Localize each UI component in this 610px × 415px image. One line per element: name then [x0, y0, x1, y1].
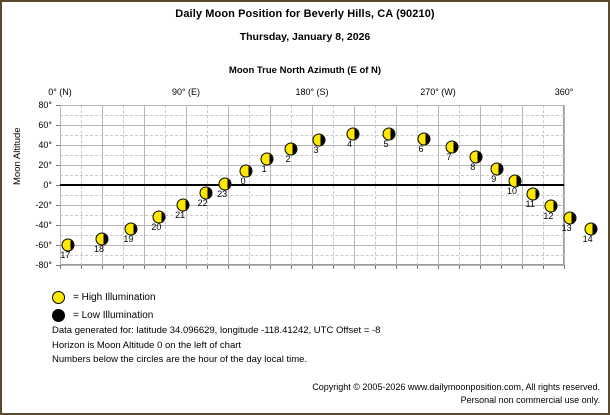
y-axis-tick — [56, 125, 60, 126]
page-subtitle: Thursday, January 8, 2026 — [2, 31, 608, 43]
gridline-horizontal — [60, 155, 564, 156]
x-axis-tick — [396, 265, 397, 269]
moon-hour-label: 21 — [175, 210, 185, 220]
note-hour-numbers: Numbers below the circles are the hour o… — [52, 353, 380, 368]
y-axis-title: Moon Altitude — [12, 127, 23, 185]
moon-hour-label: 19 — [123, 234, 133, 244]
high-illumination-icon — [52, 291, 65, 304]
x-axis-tick — [459, 265, 460, 269]
x-axis-tick — [249, 265, 250, 269]
gridline-horizontal — [60, 135, 564, 136]
x-axis-tick-label: 180° (S) — [295, 87, 328, 97]
legend-row-high: = High Illumination — [52, 289, 156, 305]
gridline-horizontal — [60, 235, 564, 236]
x-axis-tick — [333, 265, 334, 269]
moon-hour-label: 12 — [543, 211, 553, 221]
y-axis-tick — [56, 185, 60, 186]
y-axis-tick-label: -80° — [35, 260, 52, 270]
x-axis-tick — [522, 265, 523, 269]
y-axis-tick-label: 40° — [38, 140, 52, 150]
x-axis-tick — [291, 265, 292, 269]
moon-hour-label: 0 — [241, 176, 246, 186]
gridline-vertical — [564, 105, 565, 265]
moon-hour-label: 17 — [60, 250, 70, 260]
x-axis-tick-label: 0° (N) — [48, 87, 72, 97]
note-data-generated: Data generated for: latitude 34.096629, … — [52, 324, 380, 339]
y-axis-tick — [56, 205, 60, 206]
moon-hour-label: 14 — [583, 234, 593, 244]
x-axis-tick — [270, 265, 271, 269]
x-axis-tick — [438, 265, 439, 269]
gridline-horizontal — [60, 215, 564, 216]
gridline-horizontal — [60, 145, 564, 146]
x-axis-tick-label: 360° — [555, 87, 574, 97]
y-axis-tick — [56, 265, 60, 266]
gridline-horizontal — [60, 115, 564, 116]
y-axis-tick-label: -60° — [35, 240, 52, 250]
legend-label-high: = High Illumination — [73, 292, 156, 303]
chart-plot-area: 0° (N)90° (E)180° (S)270° (W)360°80°60°4… — [60, 105, 564, 265]
copyright-line: Copyright © 2005-2026 www.dailymoonposit… — [312, 381, 600, 394]
moon-hour-label: 6 — [418, 144, 423, 154]
moon-hour-label: 11 — [526, 199, 535, 209]
footer-copyright: Copyright © 2005-2026 www.dailymoonposit… — [312, 381, 600, 407]
legend-label-low: = Low Illumination — [73, 310, 153, 321]
gridline-horizontal — [60, 195, 564, 196]
y-axis-tick — [56, 165, 60, 166]
usage-line: Personal non commercial use only. — [312, 394, 600, 407]
x-axis-tick — [102, 265, 103, 269]
x-axis-tick — [543, 265, 544, 269]
x-axis-title: Moon True North Azimuth (E of N) — [2, 65, 608, 76]
x-axis-tick — [312, 265, 313, 269]
y-axis-tick — [56, 245, 60, 246]
y-axis-tick-label: 60° — [38, 120, 52, 130]
moon-hour-label: 13 — [562, 223, 572, 233]
x-axis-tick — [228, 265, 229, 269]
y-axis-tick-label: 0° — [43, 180, 52, 190]
moon-hour-label: 22 — [198, 198, 208, 208]
gridline-horizontal — [60, 255, 564, 256]
low-illumination-icon — [52, 309, 65, 322]
gridline-horizontal — [60, 175, 564, 176]
moon-hour-label: 3 — [313, 145, 318, 155]
moon-hour-label: 18 — [94, 244, 104, 254]
x-axis-tick — [375, 265, 376, 269]
gridline-horizontal — [60, 245, 564, 246]
x-axis-tick — [186, 265, 187, 269]
x-axis-tick — [564, 265, 565, 269]
x-axis-tick-label: 270° (W) — [420, 87, 456, 97]
gridline-horizontal — [60, 125, 564, 126]
moon-hour-label: 2 — [285, 154, 290, 164]
moon-shadow — [592, 223, 597, 236]
y-axis-tick-label: -40° — [35, 220, 52, 230]
x-axis-tick — [81, 265, 82, 269]
moon-hour-label: 10 — [507, 186, 517, 196]
moon-position-chart-page: Daily Moon Position for Beverly Hills, C… — [2, 2, 608, 413]
page-title: Daily Moon Position for Beverly Hills, C… — [2, 8, 608, 20]
horizon-line — [60, 184, 564, 186]
x-axis-tick — [207, 265, 208, 269]
moon-shadow — [571, 212, 576, 225]
note-horizon: Horizon is Moon Altitude 0 on the left o… — [52, 339, 380, 354]
x-axis-tick — [165, 265, 166, 269]
moon-hour-label: 7 — [446, 152, 451, 162]
x-axis-tick — [354, 265, 355, 269]
y-axis-tick-label: 80° — [38, 100, 52, 110]
gridline-horizontal — [60, 165, 564, 166]
moon-hour-label: 1 — [262, 164, 267, 174]
x-axis-tick — [60, 265, 61, 269]
y-axis-tick — [56, 225, 60, 226]
y-axis-tick — [56, 105, 60, 106]
moon-hour-label: 23 — [217, 189, 227, 199]
moon-hour-label: 9 — [491, 174, 496, 184]
chart-legend: = High Illumination = Low Illumination — [52, 289, 156, 325]
x-axis-tick — [417, 265, 418, 269]
y-axis-tick-label: -20° — [35, 200, 52, 210]
gridline-horizontal — [60, 105, 564, 106]
chart-notes: Data generated for: latitude 34.096629, … — [52, 324, 380, 368]
y-axis-tick — [56, 145, 60, 146]
x-axis-tick — [501, 265, 502, 269]
moon-hour-label: 8 — [470, 162, 475, 172]
x-axis-tick — [123, 265, 124, 269]
x-axis-tick — [144, 265, 145, 269]
moon-hour-label: 4 — [347, 139, 352, 149]
gridline-horizontal — [60, 205, 564, 206]
moon-hour-label: 20 — [151, 222, 161, 232]
legend-row-low: = Low Illumination — [52, 307, 156, 323]
x-axis-tick-label: 90° (E) — [172, 87, 200, 97]
y-axis-tick-label: 20° — [38, 160, 52, 170]
x-axis-tick — [480, 265, 481, 269]
moon-hour-label: 5 — [383, 139, 388, 149]
